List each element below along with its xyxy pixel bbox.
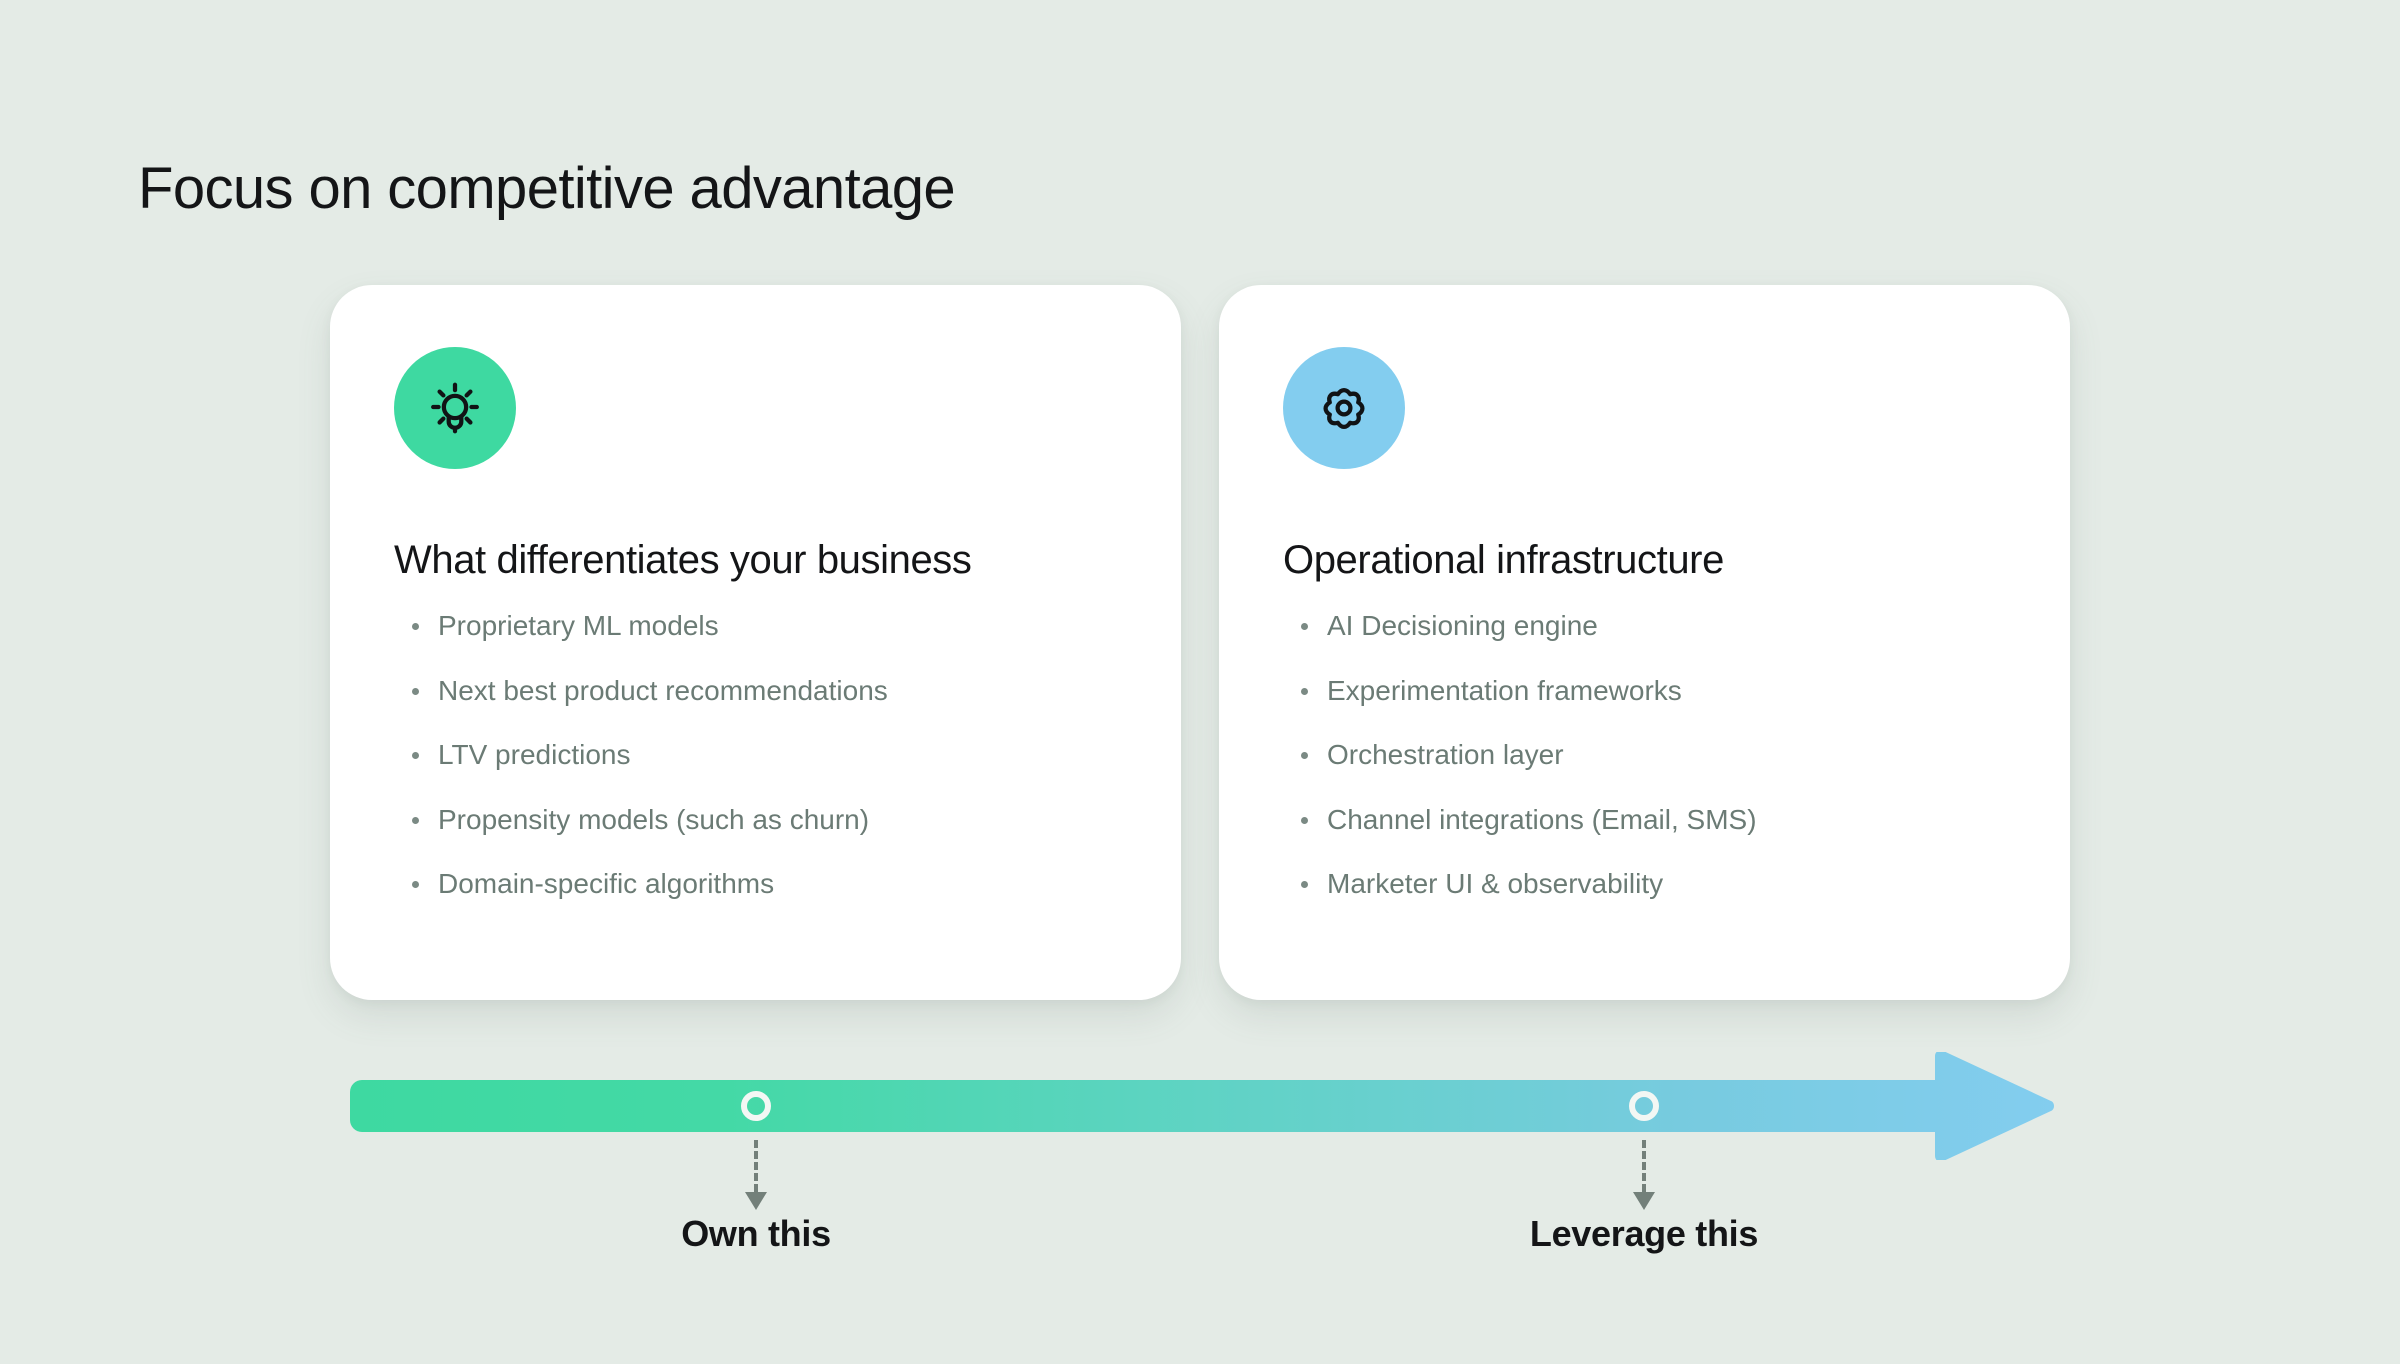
card-heading: What differentiates your business [394,537,1117,583]
spectrum-label-own: Own this [681,1213,831,1255]
pointer-stem [754,1140,758,1192]
list-item: Orchestration layer [1283,738,2006,772]
card-heading: Operational infrastructure [1283,537,2006,583]
list-item: Marketer UI & observability [1283,867,2006,901]
spectrum-marker-leverage[interactable] [1629,1091,1659,1121]
gear-icon-badge [1283,347,1405,469]
list-item: Channel integrations (Email, SMS) [1283,803,2006,837]
gear-icon [1313,377,1375,439]
lightbulb-icon-badge [394,347,516,469]
list-item: LTV predictions [394,738,1117,772]
list-item: Experimentation frameworks [1283,674,2006,708]
list-item: Next best product recommendations [394,674,1117,708]
arrow-down-icon [1633,1192,1655,1210]
pointer-stem [1642,1140,1646,1192]
lightbulb-icon [424,377,486,439]
page-title: Focus on competitive advantage [138,157,955,222]
spectrum-bar [350,1052,2054,1160]
list-item: Proprietary ML models [394,609,1117,643]
list-item: Propensity models (such as churn) [394,803,1117,837]
spectrum-arrow [350,1052,2060,1160]
spectrum-marker-own[interactable] [741,1091,771,1121]
list-item: Domain-specific algorithms [394,867,1117,901]
slide-canvas: Focus on competitive advantage [0,0,2400,1364]
arrow-down-icon [745,1192,767,1210]
card-bullet-list: Proprietary ML models Next best product … [394,609,1117,901]
card-infrastructure: Operational infrastructure AI Decisionin… [1219,285,2070,1000]
list-item: AI Decisioning engine [1283,609,2006,643]
card-differentiators: What differentiates your business Propri… [330,285,1181,1000]
card-group: What differentiates your business Propri… [330,285,2070,1000]
card-bullet-list: AI Decisioning engine Experimentation fr… [1283,609,2006,901]
spectrum-label-leverage: Leverage this [1530,1213,1758,1255]
